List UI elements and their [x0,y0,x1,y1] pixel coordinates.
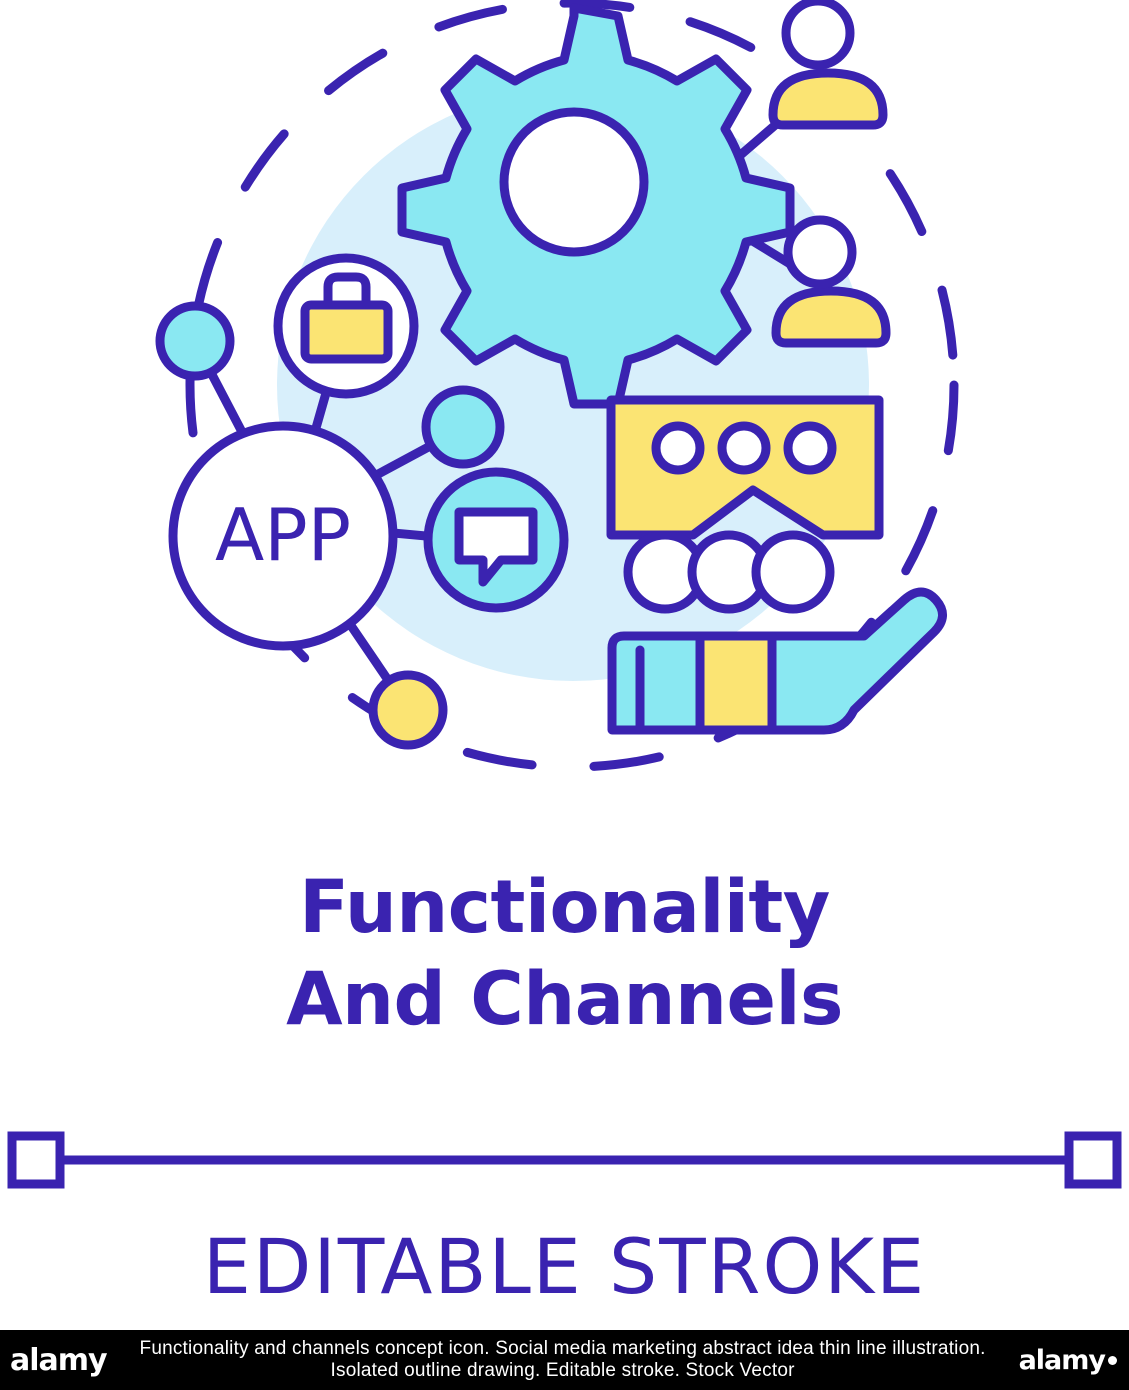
small-yellow-node-bottom [373,675,443,745]
image-caption: Functionality and channels concept icon.… [107,1338,1019,1382]
briefcase-icon [278,258,414,394]
hand-holding-people-icon [612,535,943,730]
alamy-mark-text: alamy [1019,1345,1105,1376]
chat-bubble-circle-icon [428,472,564,608]
app-node-label: APP [215,493,351,577]
alamy-wordmark: alamy [10,1343,107,1378]
small-cyan-node-left [160,306,230,376]
stroke-handle-left[interactable] [12,1136,60,1184]
app-circle-node: APP [173,426,393,646]
alamy-logo-left: alamy [0,1343,107,1378]
editable-stroke-bar [0,1118,1129,1198]
alamy-logo-right: alamy [1019,1345,1129,1376]
alamy-watermark-bar: alamy Functionality and channels concept… [0,1330,1129,1390]
title-line-2: And Channels [0,954,1129,1046]
gear-icon [402,8,790,404]
alamy-mark-dot [1108,1356,1117,1365]
small-cyan-node-center [426,390,500,464]
concept-illustration: APP [0,0,1129,860]
stroke-handle-right[interactable] [1069,1136,1117,1184]
person-icon-top [773,1,883,125]
screenshot-root: APP Functionality And Channels EDITABLE … [0,0,1129,1390]
title-line-1: Functionality [0,862,1129,954]
concept-title: Functionality And Channels [0,862,1129,1046]
editable-stroke-label: EDITABLE STROKE [0,1222,1129,1311]
